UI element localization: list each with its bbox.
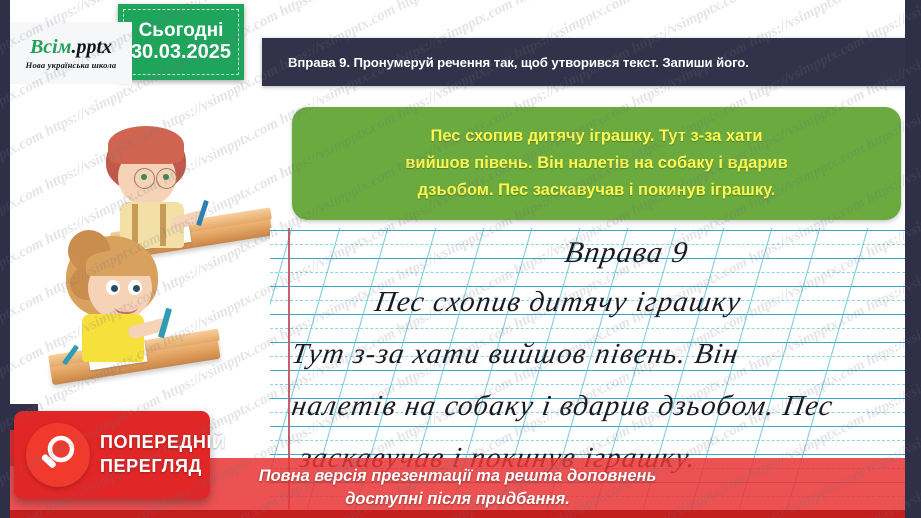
smile-girl — [114, 300, 138, 314]
logo-brand-green: Всім — [30, 36, 71, 58]
purchase-banner-line-2: доступні після придбання. — [345, 488, 570, 511]
pupil-left-girl — [111, 285, 118, 292]
task-line-3: дзьобом. Пес заскавучав і покинув іграшк… — [418, 177, 776, 204]
preview-button-label: ПОПЕРЕДНІЙ ПЕРЕГЛЯД — [100, 431, 226, 479]
task-text-box: Пес схопив дитячу іграшку. Тут з-за хати… — [292, 107, 901, 220]
logo-brand-dark: .pptx — [71, 36, 112, 58]
magnifier-icon — [26, 423, 90, 487]
header-bar: Вправа 9. Пронумеруй речення так, щоб ут… — [262, 38, 921, 86]
bangs-girl — [86, 250, 154, 276]
handwriting-line-3: налетів на собаку і вдарив дзьобом. Пес — [289, 390, 835, 423]
task-line-1: Пес схопив дитячу іграшку. Тут з-за хати — [430, 123, 762, 150]
date-badge-date: 30.03.2025 — [131, 41, 231, 64]
logo-tagline: Нова українська школа — [26, 60, 117, 70]
purchase-banner-line-1: Повна версія презентації та решта доповн… — [259, 465, 657, 488]
pupil-right-girl — [133, 285, 140, 292]
logo-wordmark: Всім.pptx — [30, 36, 112, 59]
eye-left-boy — [141, 174, 147, 180]
handwriting-line-2: Тут з-за хати вийшов півень. Він — [289, 338, 741, 371]
brand-logo: Всім.pptx Нова українська школа — [10, 22, 132, 84]
slide-root: Вправа 9 Пес схопив дитячу іграшку Тут з… — [0, 0, 921, 518]
banner-bottom-strip — [10, 510, 905, 518]
handwriting-title: Вправа 9 — [562, 236, 691, 270]
preview-label-line-1: ПОПЕРЕДНІЙ — [100, 431, 226, 455]
date-badge: Сьогодні 30.03.2025 — [118, 4, 244, 80]
task-line-2: вийшов півень. Він налетів на собаку і в… — [405, 150, 787, 177]
left-edge-strip — [0, 0, 10, 518]
eye-right-boy — [163, 174, 169, 180]
date-badge-label: Сьогодні — [139, 20, 224, 42]
preview-label-line-2: ПЕРЕГЛЯД — [100, 455, 226, 479]
right-edge-strip — [905, 0, 921, 518]
hair-boy-top — [108, 126, 184, 164]
kids-illustration — [10, 108, 272, 408]
preview-button[interactable]: ПОПЕРЕДНІЙ ПЕРЕГЛЯД — [14, 411, 210, 499]
page-title: Вправа 9. Пронумеруй речення так, щоб ут… — [262, 55, 749, 70]
suspender-right-boy — [160, 204, 166, 246]
handwriting-line-1: Пес схопив дитячу іграшку — [372, 286, 743, 319]
